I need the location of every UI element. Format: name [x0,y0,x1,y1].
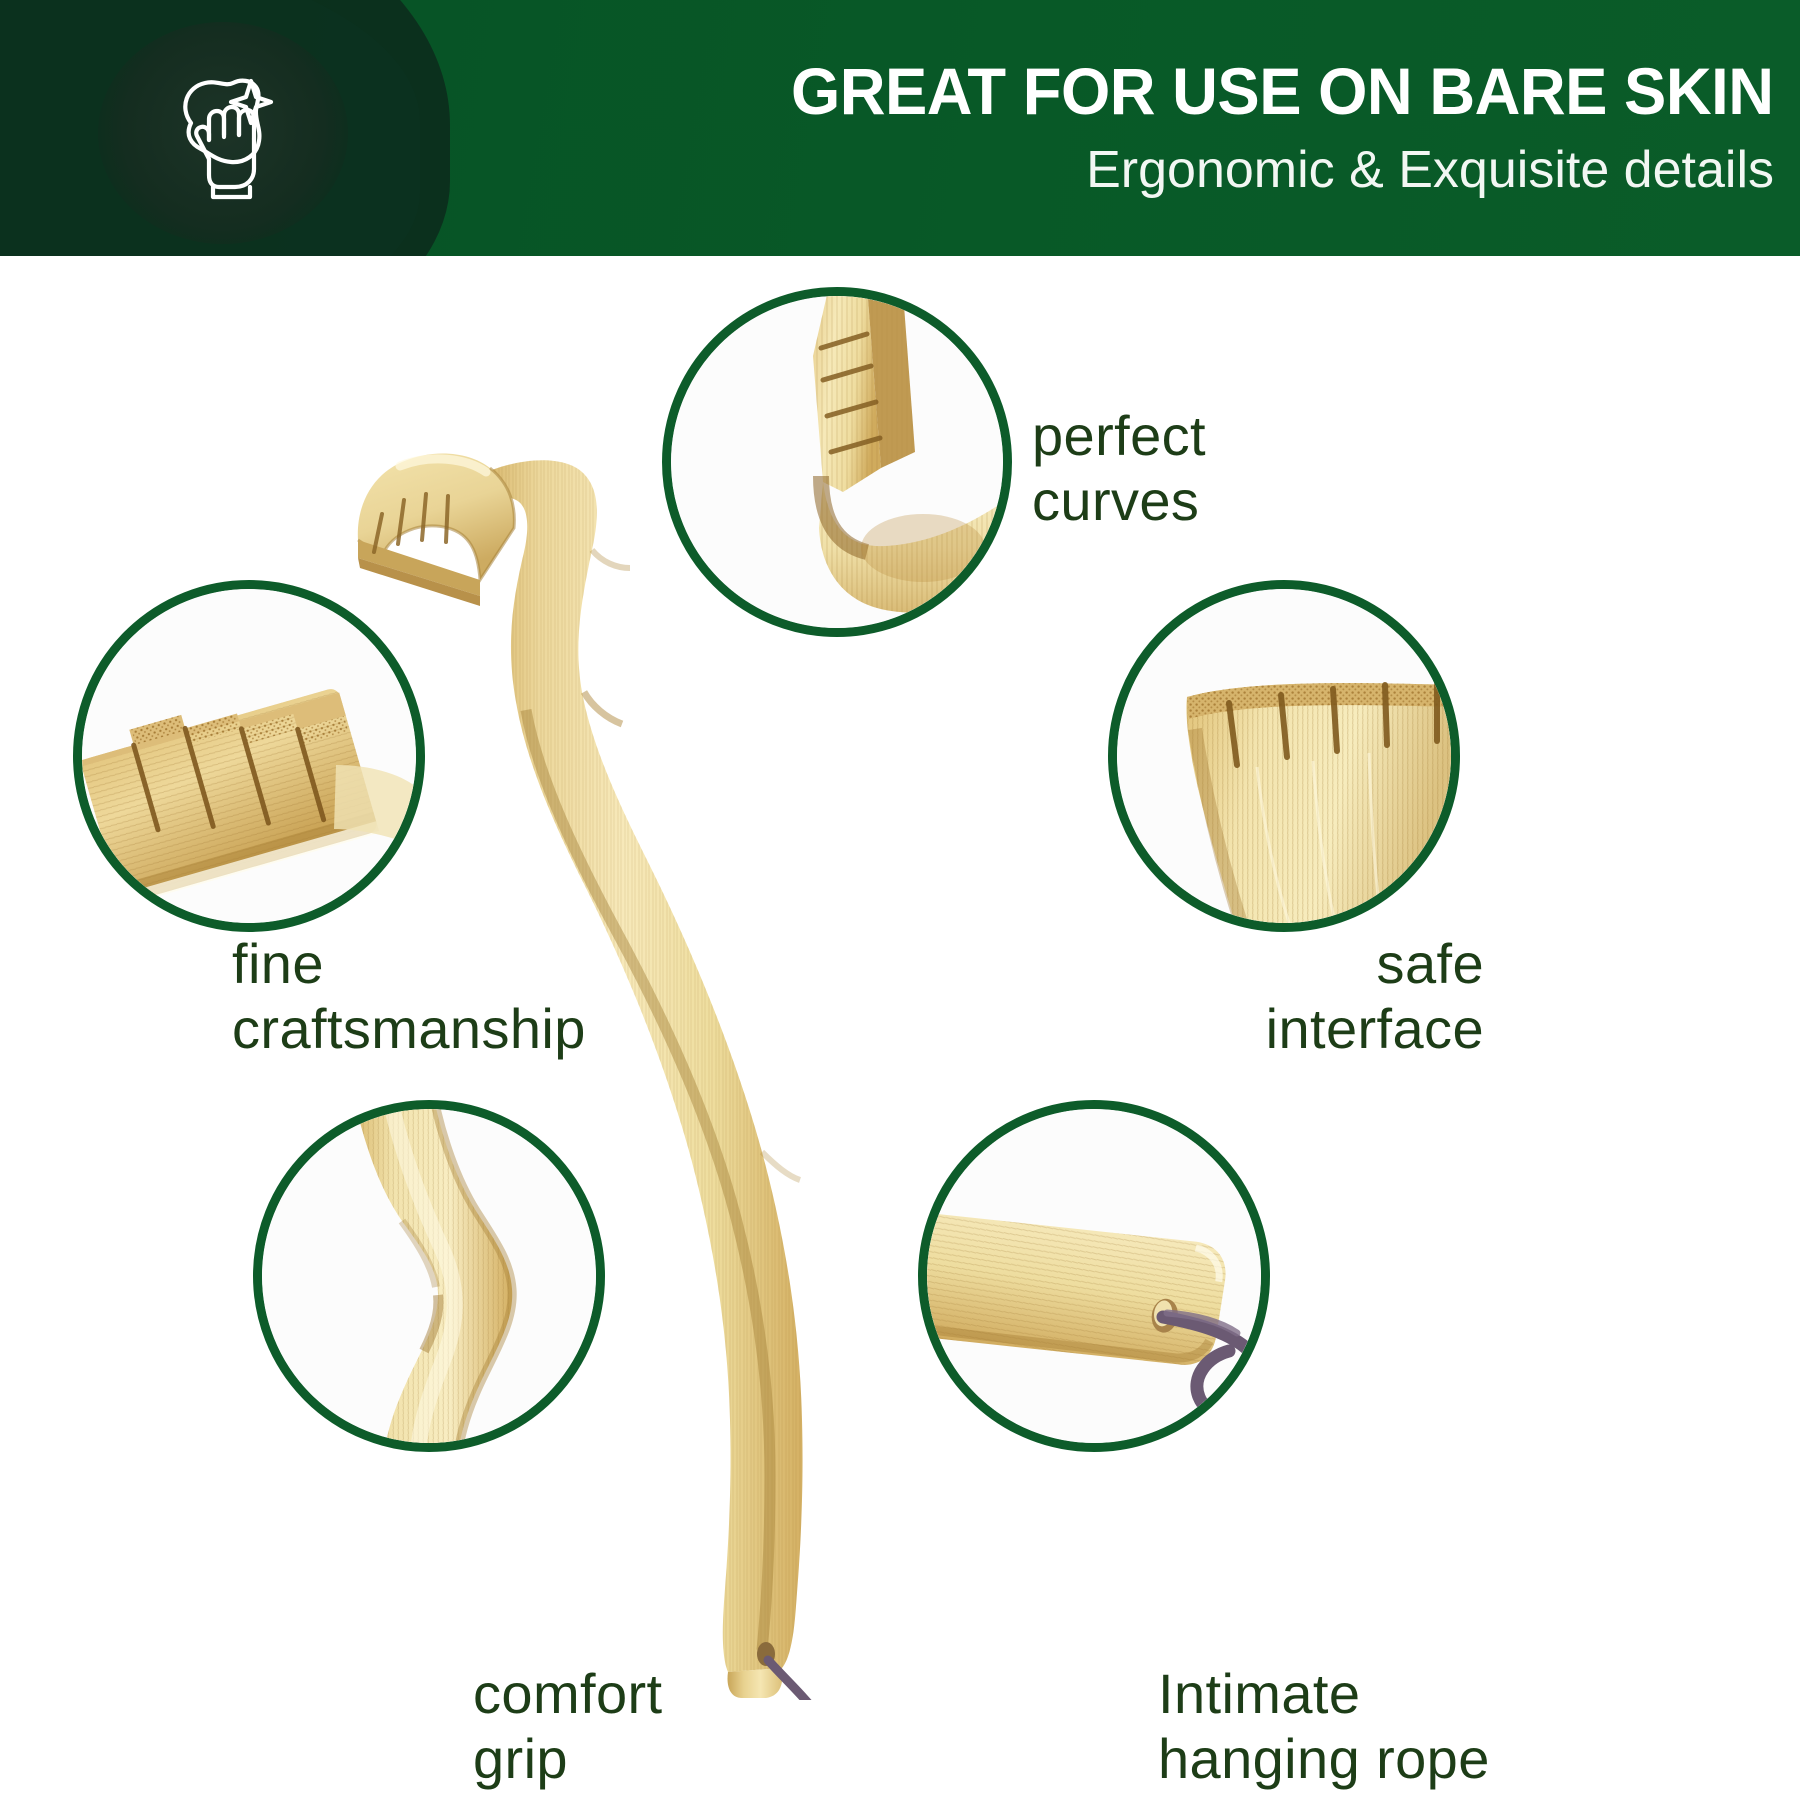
detail-image-bamboo-head-curve-closeup [671,296,1003,628]
detail-circle-safe-interface [1108,580,1460,932]
detail-label-fine-craftsmanship: fine craftsmanship [232,932,732,1062]
banner-subtitle: Ergonomic & Exquisite details [1086,142,1774,198]
detail-circle-comfort-grip [253,1100,605,1452]
detail-label-comfort-grip: comfort grip [473,1662,853,1792]
detail-label-intimate-hanging-rope: Intimate hanging rope [1158,1662,1718,1792]
detail-circle-intimate-hanging-rope [918,1100,1270,1452]
detail-image-bamboo-handle-rope-closeup [927,1109,1261,1443]
detail-label-perfect-curves: perfect curves [1032,404,1362,534]
detail-circle-perfect-curves [662,287,1012,637]
hand-sparkle-icon [157,63,289,203]
header-banner: GREAT FOR USE ON BARE SKIN Ergonomic & E… [0,0,1800,256]
detail-label-safe-interface: safe interface [1060,932,1484,1062]
detail-image-bamboo-head-slots-closeup [1117,589,1451,923]
header-text-block: GREAT FOR USE ON BARE SKIN Ergonomic & E… [410,0,1774,256]
detail-image-bamboo-head-tines-closeup [82,589,416,923]
header-icon-badge [98,22,348,244]
detail-circle-fine-craftsmanship [73,580,425,932]
banner-title: GREAT FOR USE ON BARE SKIN [791,58,1774,125]
detail-image-bamboo-shaft-waist-closeup [262,1109,596,1443]
